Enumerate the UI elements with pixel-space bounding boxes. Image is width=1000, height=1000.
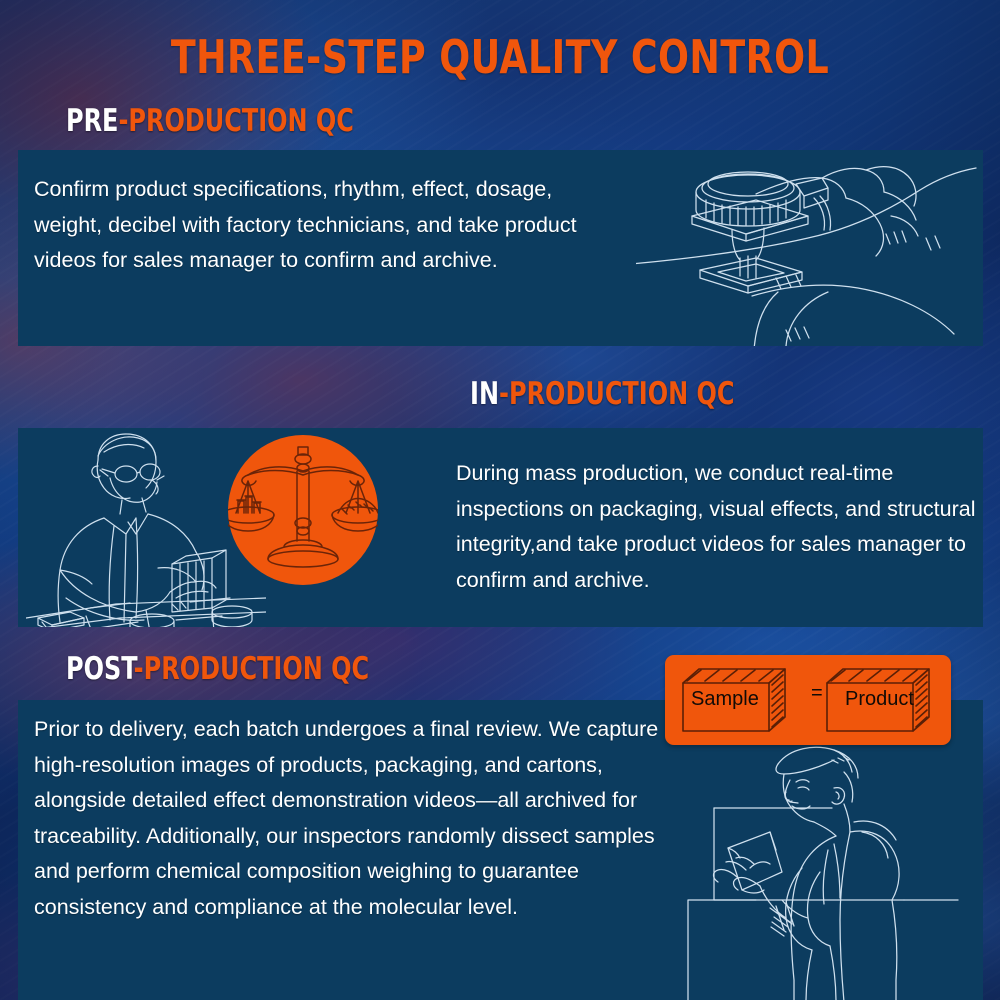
section-heading-post-production: POST-PRODUCTION QC: [66, 652, 369, 686]
section-heading-pre-production: PRE-PRODUCTION QC: [66, 104, 354, 138]
sample-equals-product-badge: Sample = Product: [665, 655, 951, 745]
section-heading-post-orange: -PRODUCTION QC: [134, 651, 369, 687]
section-heading-in-white: IN: [470, 376, 499, 412]
balance-scale-badge: [228, 435, 378, 585]
panel-post-production-body: Prior to delivery, each batch undergoes …: [34, 712, 674, 925]
section-heading-pre-orange: -PRODUCTION QC: [118, 103, 353, 139]
panel-in-production-body: During mass production, we conduct real-…: [456, 456, 983, 598]
product-label: Product: [845, 688, 914, 711]
section-heading-pre-white: PRE: [66, 103, 118, 139]
section-heading-post-white: POST: [66, 651, 134, 687]
section-heading-in-production: IN-PRODUCTION QC: [470, 377, 734, 411]
man-reviewing-document-illustration: [658, 740, 983, 1000]
equals-operator: =: [811, 682, 823, 705]
balance-scale-icon: [228, 435, 378, 585]
page-title: THREE-STEP QUALITY CONTROL: [60, 32, 940, 82]
panel-pre-production-body: Confirm product specifications, rhythm, …: [34, 172, 594, 279]
section-heading-in-orange: -PRODUCTION QC: [499, 376, 734, 412]
sample-label: Sample: [691, 688, 759, 711]
hand-inspecting-product-illustration: [636, 150, 983, 346]
panel-pre-production: Confirm product specifications, rhythm, …: [18, 150, 983, 346]
panel-in-production: During mass production, we conduct real-…: [18, 428, 983, 627]
